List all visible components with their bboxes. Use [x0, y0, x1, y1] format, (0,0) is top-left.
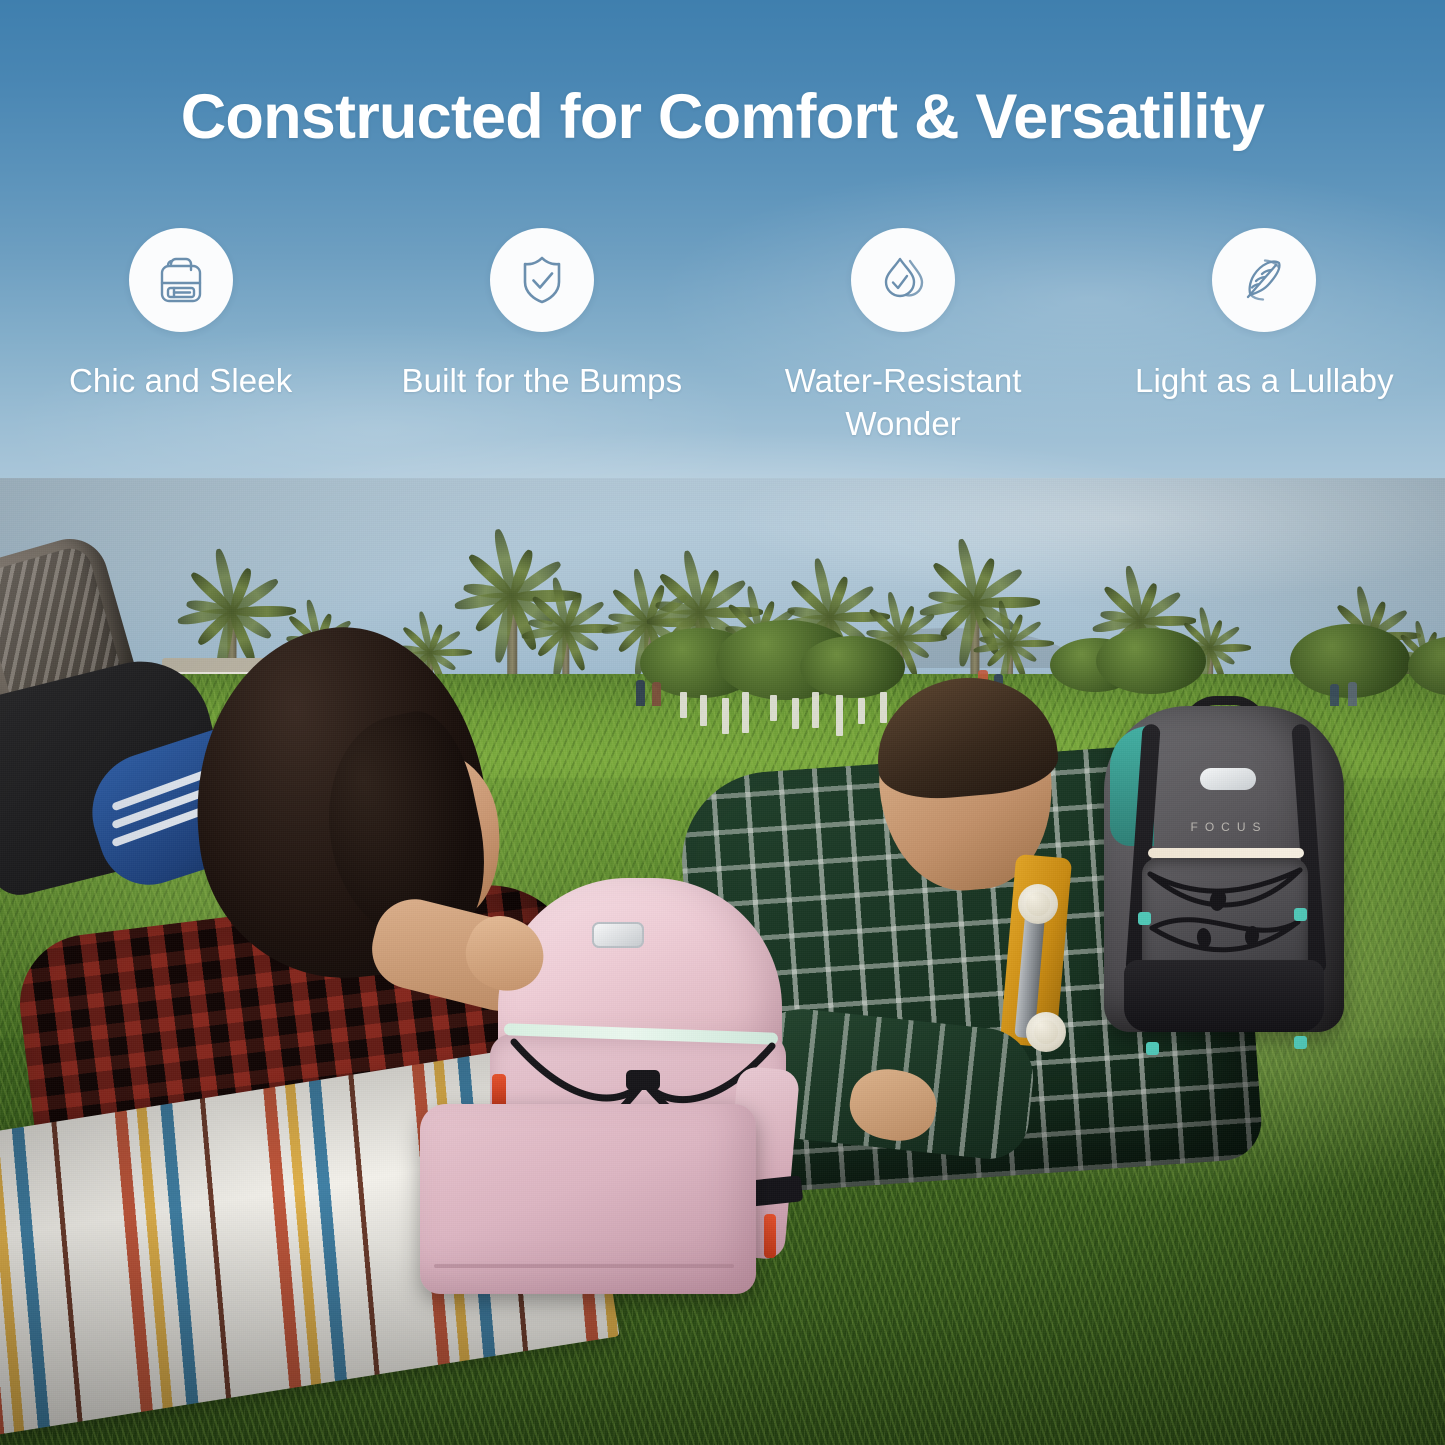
shield-check-icon: [513, 251, 571, 309]
feature-item-chic-and-sleek[interactable]: Chic and Sleek: [0, 228, 361, 446]
fence-post: [792, 698, 799, 729]
fence-post: [880, 692, 887, 723]
distant-person: [636, 680, 645, 706]
feature-icon-badge: [1212, 228, 1316, 332]
feature-label: Chic and Sleek: [69, 360, 292, 403]
lifestyle-photo: FOCUS: [0, 478, 1445, 1445]
bungee-anchor: [1146, 1042, 1159, 1055]
grey-backpack[interactable]: FOCUS: [1104, 672, 1344, 1032]
feature-item-light-as-a-lullaby[interactable]: Light as a Lullaby: [1084, 228, 1445, 446]
bungee-anchor: [1294, 908, 1307, 921]
fence-post: [836, 695, 843, 736]
skateboard-wheel: [1026, 1012, 1066, 1052]
feature-label: Light as a Lullaby: [1135, 360, 1394, 403]
backpack-logo-patch: [592, 922, 644, 948]
feature-label: Built for the Bumps: [402, 360, 683, 403]
bungee-anchor: [1294, 1036, 1307, 1049]
feature-list: Chic and Sleek Built for the Bumps: [0, 228, 1445, 446]
fence-post: [770, 695, 777, 721]
feather-icon: [1235, 251, 1293, 309]
fence-post: [742, 692, 749, 733]
fence-post: [680, 692, 687, 718]
bungee-anchor: [1138, 912, 1151, 925]
backpack-bottom-panel: [1124, 960, 1324, 1032]
topiary-bush: [800, 636, 905, 698]
fence-post: [858, 698, 865, 724]
feature-item-water-resistant-wonder[interactable]: Water-Resistant Wonder: [723, 228, 1084, 446]
accent-tab: [492, 1074, 506, 1108]
skateboard-wheel: [1018, 884, 1058, 924]
feature-item-built-for-the-bumps[interactable]: Built for the Bumps: [361, 228, 722, 446]
backpack-brand-text: FOCUS: [1174, 820, 1284, 834]
distant-person: [652, 682, 661, 706]
feature-icon-badge: [129, 228, 233, 332]
distant-person: [1348, 682, 1357, 706]
product-feature-card: Constructed for Comfort & Versatility: [0, 0, 1445, 1445]
feature-icon-badge: [851, 228, 955, 332]
feature-icon-badge: [490, 228, 594, 332]
backpack-cream-stripe: [1148, 848, 1304, 858]
fence-post: [812, 692, 819, 728]
fence-post: [700, 695, 707, 726]
accent-tab: [764, 1214, 776, 1258]
page-title: Constructed for Comfort & Versatility: [0, 84, 1445, 150]
water-drop-check-icon: [874, 251, 932, 309]
fence-post: [722, 698, 729, 734]
backpack-logo-patch: [1200, 768, 1256, 790]
backpack-pocket-seam: [434, 1264, 734, 1268]
backpack-icon: [152, 251, 210, 309]
feature-label: Water-Resistant Wonder: [748, 360, 1058, 446]
